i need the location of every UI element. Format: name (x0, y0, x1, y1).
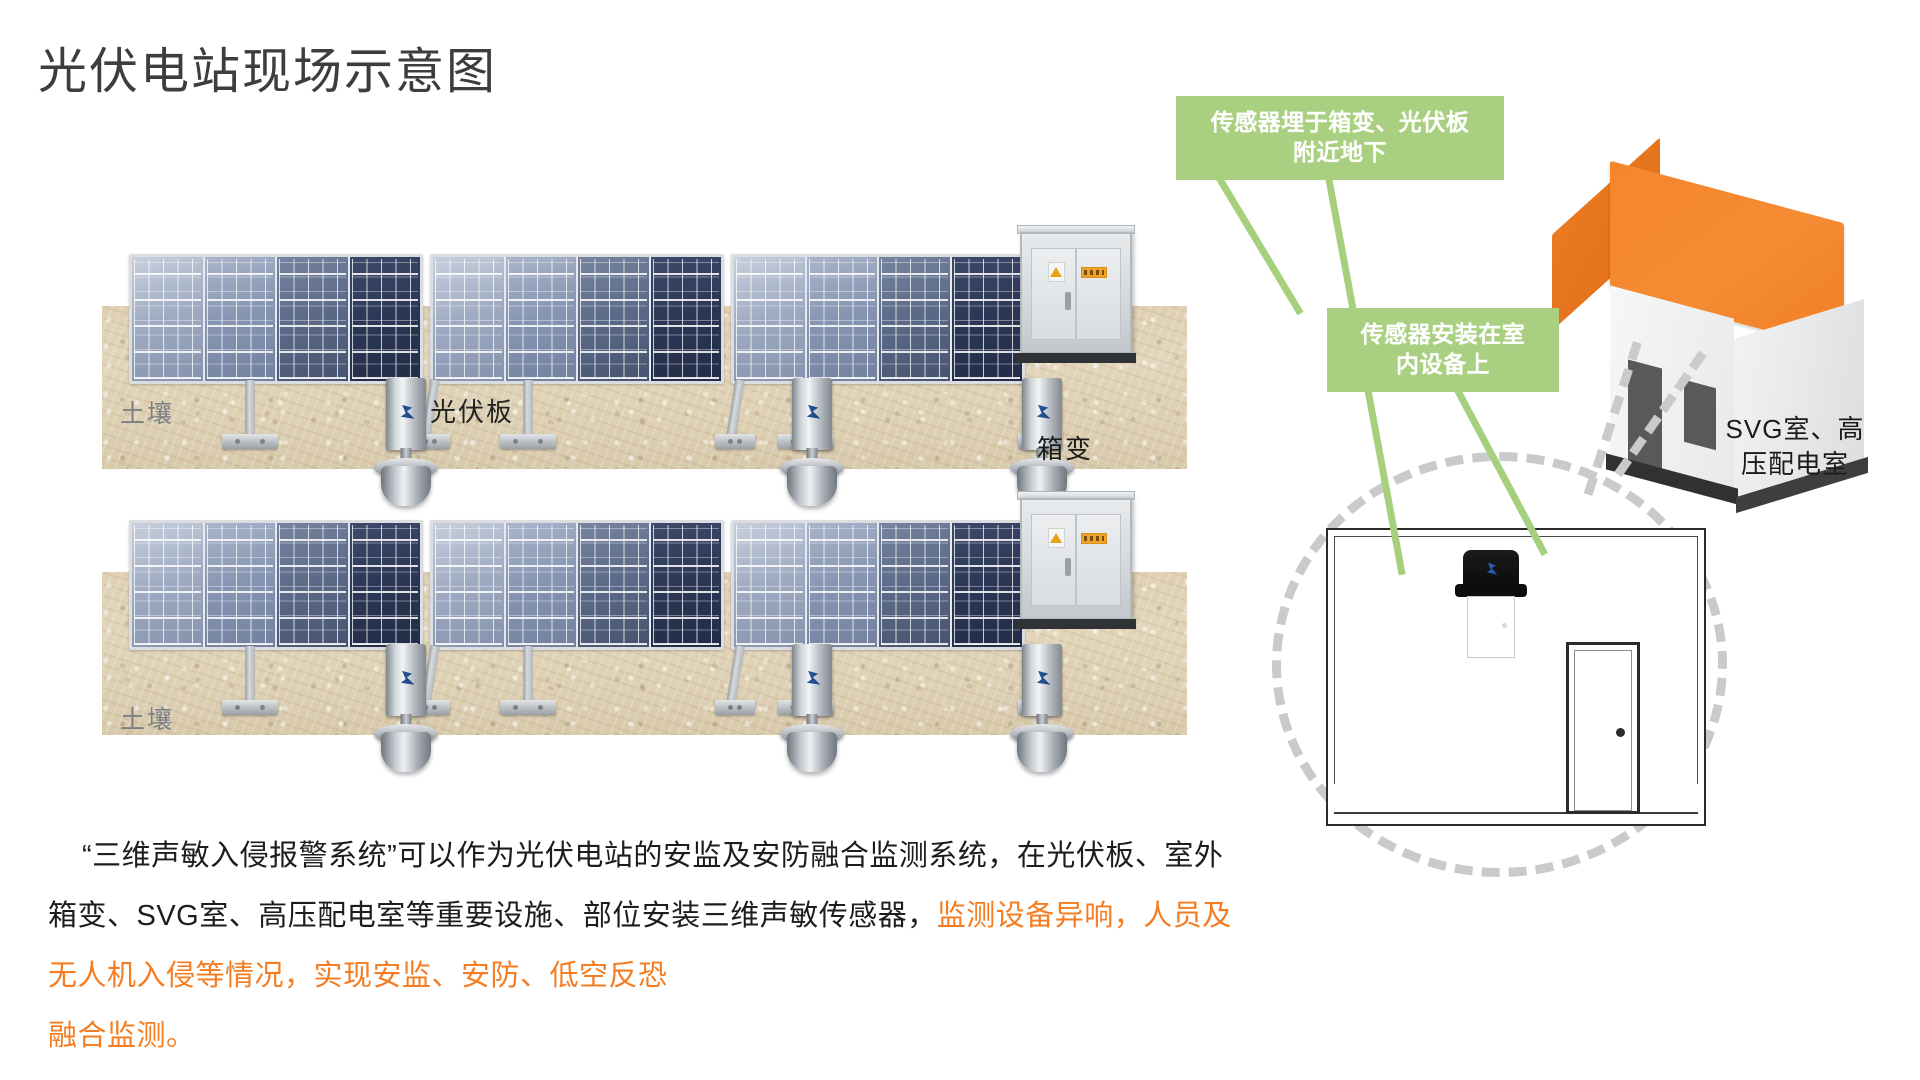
slide-canvas: 光伏电站现场示意图 (0, 0, 1920, 1080)
transformer-box (1020, 232, 1132, 354)
paragraph-line-4: 融合监测。 (48, 1006, 1468, 1066)
solar-panel (578, 523, 651, 647)
solar-panel (578, 257, 651, 381)
paragraph-line-1-text: “三维声敏入侵报警系统”可以作为光伏电站的安监及安防融合监测系统，在光伏板、室外 (82, 840, 1223, 872)
solar-panel (807, 523, 880, 647)
door-knob-icon (1616, 728, 1625, 737)
panel-post (222, 380, 278, 446)
page-title: 光伏电站现场示意图 (38, 32, 497, 103)
solar-panel (879, 257, 952, 381)
panel-post (717, 646, 763, 712)
paragraph-line-2-orange: 监测设备异响，人员及 (937, 900, 1232, 932)
callout-leader-line (1210, 166, 1304, 315)
nameplate (1081, 267, 1107, 278)
room-floor-line (1334, 812, 1698, 814)
sensor-dome (1463, 550, 1519, 588)
paragraph-line-3: 无人机入侵等情况，实现安监、安防、低空反恐 (48, 946, 1468, 1006)
sensor-wall-mount (1467, 596, 1515, 658)
solar-panel (651, 523, 722, 647)
room-door (1566, 642, 1640, 814)
transformer-label: 箱变 (1037, 429, 1093, 466)
solar-panel (205, 257, 278, 381)
panel-group (129, 520, 423, 650)
house-label-line1: SVG室、高 (1700, 412, 1890, 447)
panel-group (731, 520, 1025, 650)
paragraph-line-2: 箱变、SVG室、高压配电室等重要设施、部位安装三维声敏传感器，监测设备异响，人员… (48, 886, 1468, 946)
callout-indoor-line2: 内设备上 (1341, 349, 1545, 379)
callout-underground: 传感器埋于箱变、光伏板 附近地下 (1176, 96, 1504, 180)
solar-panel (734, 257, 807, 381)
solar-panel-label: 光伏板 (430, 392, 514, 429)
panel-group (129, 254, 423, 384)
house-label-line2: 压配电室 (1700, 447, 1890, 482)
solar-panel (350, 523, 421, 647)
panel-post (500, 646, 556, 712)
solar-panel (132, 523, 205, 647)
callout-underground-line2: 附近地下 (1190, 137, 1490, 167)
solar-panel (807, 257, 880, 381)
panel-group (430, 520, 724, 650)
solar-panel (277, 257, 350, 381)
panel-group (430, 254, 724, 384)
callout-indoor: 传感器安装在室 内设备上 (1327, 308, 1559, 392)
soil-label: 土壤 (120, 394, 174, 430)
warning-sign-icon (1048, 262, 1065, 282)
paragraph-line-2-black: 箱变、SVG室、高压配电室等重要设施、部位安装三维声敏传感器， (48, 900, 937, 932)
solar-panel (952, 257, 1023, 381)
solar-panel (205, 523, 278, 647)
nameplate (1081, 533, 1107, 544)
solar-panel (433, 523, 506, 647)
solar-panel (277, 523, 350, 647)
solar-panel (952, 523, 1023, 647)
solar-panel (350, 257, 421, 381)
house-label: SVG室、高 压配电室 (1700, 412, 1890, 482)
panel-group (731, 254, 1025, 384)
panel-post (222, 646, 278, 712)
solar-panel (879, 523, 952, 647)
callout-underground-line1: 传感器埋于箱变、光伏板 (1190, 107, 1490, 137)
solar-row-top: 土壤 光伏板 箱变 (102, 254, 1187, 469)
warning-sign-icon (1048, 528, 1065, 548)
solar-panel (433, 257, 506, 381)
paragraph-line-1: “三维声敏入侵报警系统”可以作为光伏电站的安监及安防融合监测系统，在光伏板、室外 (48, 826, 1468, 886)
soil-label: 土壤 (120, 700, 174, 736)
solar-row-bottom: 土壤 (102, 520, 1187, 735)
solar-panel (506, 257, 579, 381)
solar-panel (132, 257, 205, 381)
description-paragraph: “三维声敏入侵报警系统”可以作为光伏电站的安监及安防融合监测系统，在光伏板、室外… (48, 826, 1468, 1066)
transformer-box (1020, 498, 1132, 620)
solar-panel (506, 523, 579, 647)
solar-panel (651, 257, 722, 381)
solar-panel (734, 523, 807, 647)
panel-post (717, 380, 763, 446)
callout-indoor-line1: 传感器安装在室 (1341, 319, 1545, 349)
